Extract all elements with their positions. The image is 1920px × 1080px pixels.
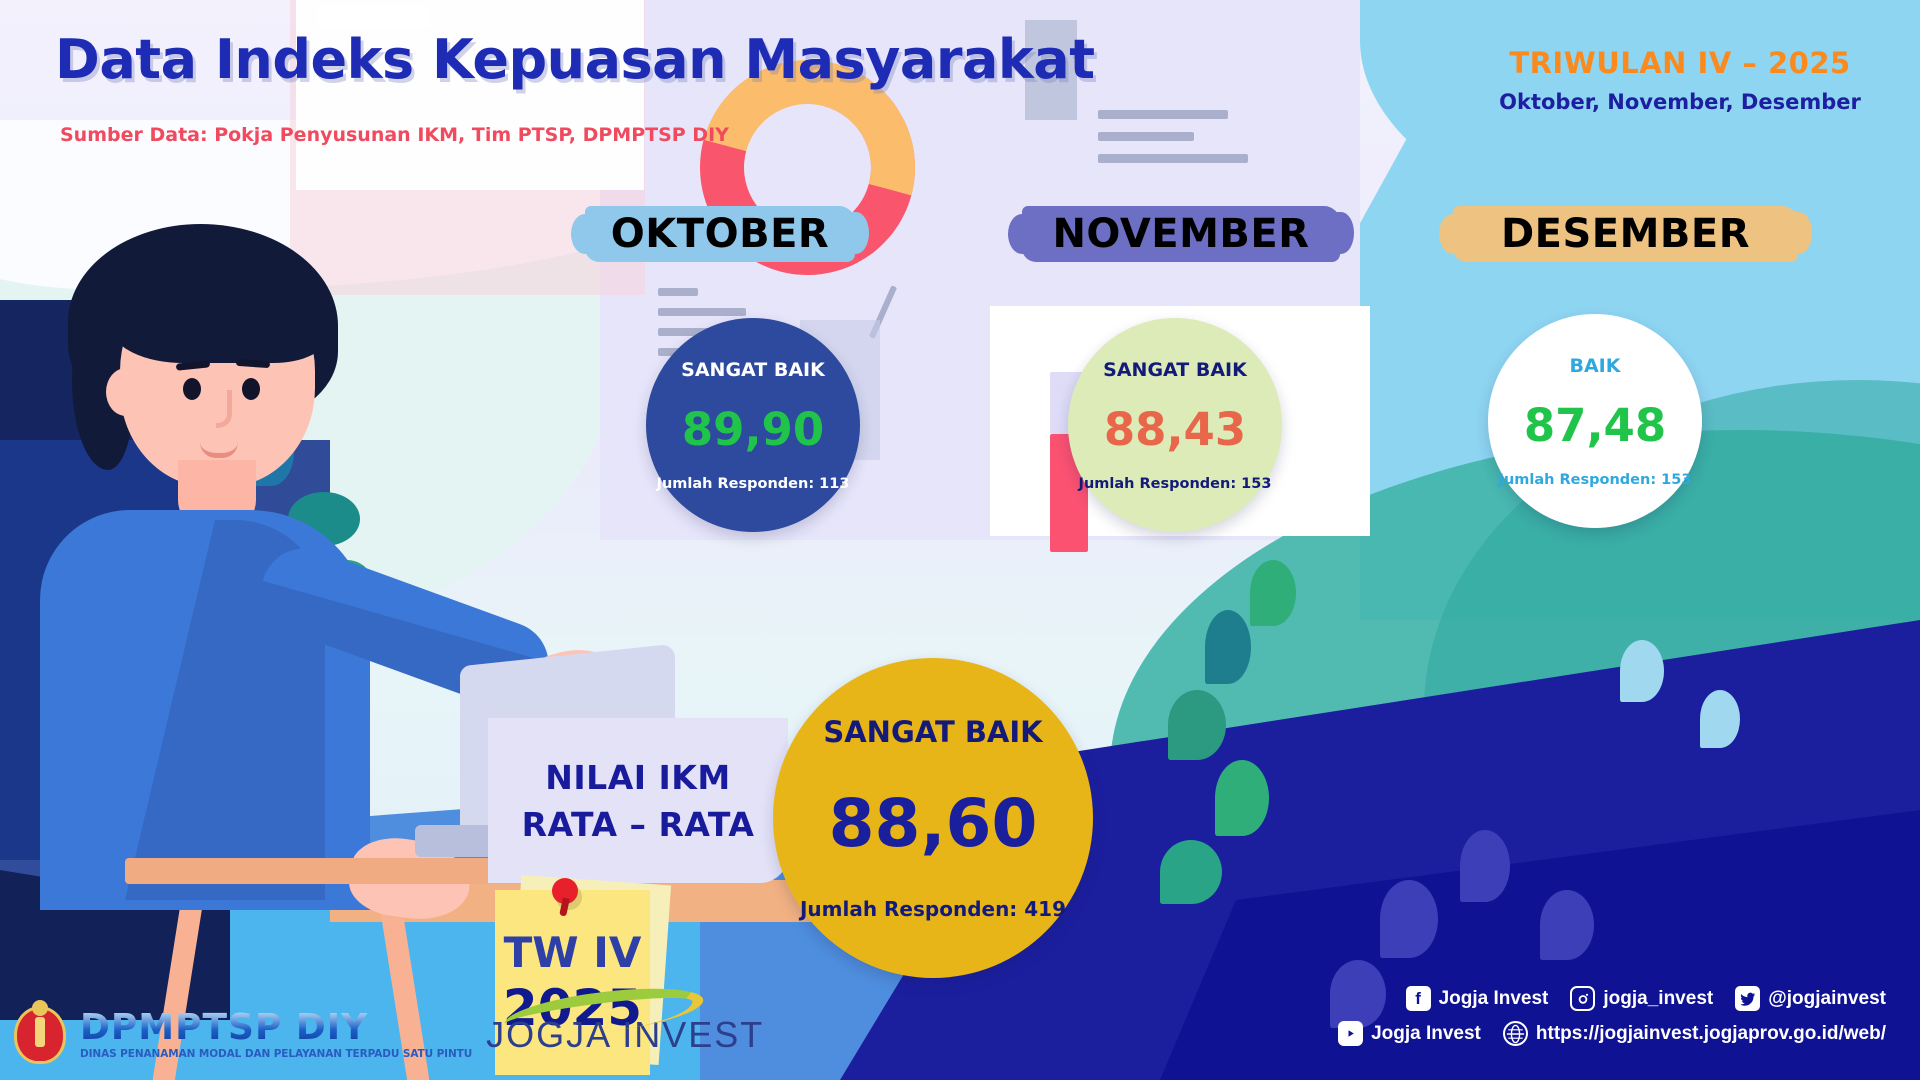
leaf-decoration <box>1700 690 1740 748</box>
gauge-category-average: SANGAT BAIK <box>823 715 1042 749</box>
gauge-inner-november: SANGAT BAIK 88,43 Jumlah Responden: 153 <box>1068 318 1282 532</box>
jogja-invest-logo: JOGJA INVEST <box>486 1014 764 1056</box>
leaf-decoration <box>1215 760 1269 836</box>
gauge-category-desember: BAIK <box>1570 355 1621 377</box>
gauge-november: SANGAT BAIK 88,43 Jumlah Responden: 153 <box>1040 290 1310 560</box>
person-eye <box>242 378 260 400</box>
infographic-canvas: Data Indeks Kepuasan Masyarakat Sumber D… <box>0 0 1920 1080</box>
gauge-inner-oktober: SANGAT BAIK 89,90 Jumlah Responden: 113 <box>646 318 860 532</box>
average-caption-line1: NILAI IKM <box>545 758 730 797</box>
twitter-icon <box>1735 986 1760 1011</box>
data-source-label: Sumber Data: Pokja Penyusunan IKM, Tim P… <box>60 124 729 146</box>
social-website[interactable]: https://jogjainvest.jogjaprov.go.id/web/ <box>1503 1021 1886 1046</box>
social-instagram[interactable]: jogja_invest <box>1570 986 1713 1011</box>
document-decoration <box>1098 154 1248 163</box>
gauge-inner-desember: BAIK 87,48 Jumlah Responden: 153 <box>1488 314 1702 528</box>
gauge-average: SANGAT BAIK 88,60 Jumlah Responden: 419 <box>735 620 1131 1016</box>
banner-november: NOVEMBER <box>1022 206 1340 262</box>
social-facebook[interactable]: f Jogja Invest <box>1406 986 1549 1011</box>
gauge-value-november: 88,43 <box>1104 407 1246 452</box>
leaf-decoration <box>1540 890 1594 960</box>
gauge-value-oktober: 89,90 <box>682 407 824 452</box>
facebook-icon: f <box>1406 986 1431 1011</box>
pushpin-icon <box>552 878 578 904</box>
page-title: Data Indeks Kepuasan Masyarakat <box>55 28 1095 91</box>
average-caption-line2: RATA – RATA <box>522 805 755 844</box>
gauge-responden-average: Jumlah Responden: 419 <box>800 897 1066 921</box>
social-row-top: f Jogja Invest jogja_invest @jogjainvest <box>1338 986 1886 1011</box>
instagram-icon <box>1570 986 1595 1011</box>
gauge-responden-oktober: Jumlah Responden: 113 <box>657 476 850 492</box>
globe-icon <box>1503 1021 1528 1046</box>
leaf-decoration <box>1460 830 1510 902</box>
document-decoration <box>318 6 430 28</box>
social-website-label: https://jogjainvest.jogjaprov.go.id/web/ <box>1536 1023 1886 1045</box>
leaf-decoration <box>1205 610 1251 684</box>
social-facebook-label: Jogja Invest <box>1439 988 1549 1010</box>
leaf-decoration <box>1160 840 1222 904</box>
dpmptsp-subtitle: DINAS PENANAMAN MODAL DAN PELAYANAN TERP… <box>80 1048 472 1060</box>
gauge-responden-desember: Jumlah Responden: 153 <box>1499 472 1692 488</box>
banner-label-desember: DESEMBER <box>1501 211 1750 257</box>
gauge-value-desember: 87,48 <box>1524 403 1666 448</box>
banner-desember: DESEMBER <box>1453 206 1798 262</box>
leaf-decoration <box>1168 690 1226 760</box>
gauge-desember: BAIK 87,48 Jumlah Responden: 153 <box>1460 286 1730 556</box>
social-instagram-label: jogja_invest <box>1603 988 1713 1010</box>
banner-label-oktober: OKTOBER <box>611 211 829 257</box>
person-fringe <box>112 258 327 363</box>
gauge-inner-average: SANGAT BAIK 88,60 Jumlah Responden: 419 <box>773 658 1093 978</box>
social-row-bottom: Jogja Invest https://jogjainvest.jogjapr… <box>1338 1021 1886 1046</box>
document-decoration <box>1098 110 1228 119</box>
document-decoration <box>1098 132 1194 141</box>
leaf-decoration <box>1250 560 1296 626</box>
gauge-category-november: SANGAT BAIK <box>1103 359 1247 381</box>
social-twitter-label: @jogjainvest <box>1768 988 1886 1010</box>
banner-oktober: OKTOBER <box>585 206 855 262</box>
leaf-decoration <box>1380 880 1438 958</box>
footer-logo-group: DPMPTSP DIY DINAS PENANAMAN MODAL DAN PE… <box>14 1006 764 1064</box>
person-eye <box>183 378 201 400</box>
banner-label-november: NOVEMBER <box>1052 211 1309 257</box>
dpmptsp-name: DPMPTSP DIY <box>80 1010 472 1046</box>
social-youtube[interactable]: Jogja Invest <box>1338 1021 1481 1046</box>
gauge-oktober: SANGAT BAIK 89,90 Jumlah Responden: 113 <box>618 290 888 560</box>
gauge-category-oktober: SANGAT BAIK <box>681 359 825 381</box>
dpmptsp-logo: DPMPTSP DIY DINAS PENANAMAN MODAL DAN PE… <box>80 1010 472 1060</box>
diy-crest-icon <box>14 1006 66 1064</box>
quarter-label: TRIWULAN IV – 2025 <box>1470 46 1890 80</box>
leaf-decoration <box>1620 640 1664 702</box>
social-youtube-label: Jogja Invest <box>1371 1023 1481 1045</box>
gauge-value-average: 88,60 <box>829 791 1038 857</box>
youtube-icon <box>1338 1021 1363 1046</box>
social-links: f Jogja Invest jogja_invest @jogjainvest <box>1338 986 1886 1056</box>
gauge-responden-november: Jumlah Responden: 153 <box>1079 476 1272 492</box>
quarter-months: Oktober, November, Desember <box>1470 90 1890 114</box>
sticky-note-line1: TW IV <box>504 928 642 977</box>
social-twitter[interactable]: @jogjainvest <box>1735 986 1886 1011</box>
